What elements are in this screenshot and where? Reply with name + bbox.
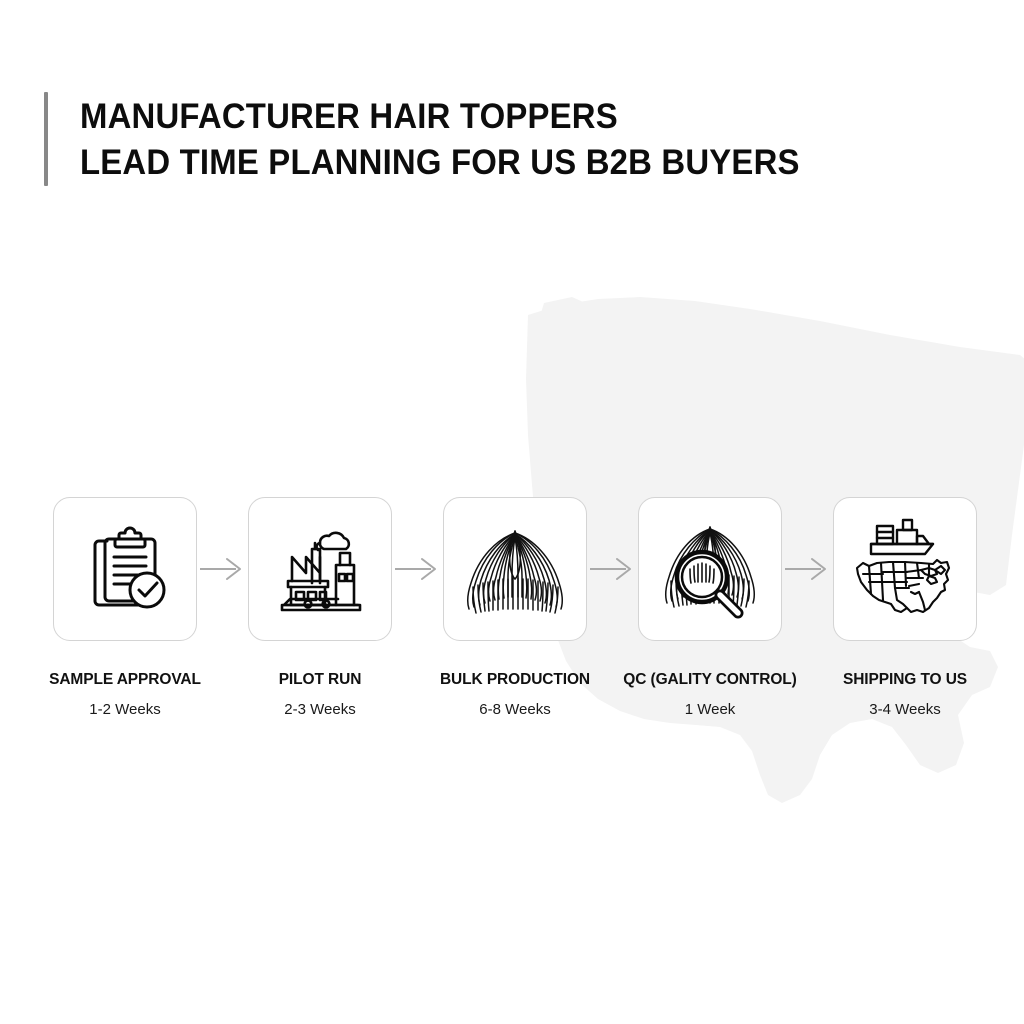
hair-topper-icon [457,521,573,617]
flow-arrow-3 [588,497,637,641]
step-duration-sample-approval: 1-2 Weeks [89,700,160,720]
title-block: MANUFACTURER HAIR TOPPERS LEAD TIME PLAN… [44,92,846,186]
hair-topper-magnifier-icon [652,519,768,619]
icon-card-qc[interactable] [638,497,782,641]
flow-arrow-1 [198,497,247,641]
step-label-qc: QC (GALITY CONTROL) [623,668,798,691]
process-flow: SAMPLE APPROVAL 1-2 Weeks [52,497,982,720]
title-line-1: MANUFACTURER HAIR TOPPERS [80,94,800,140]
flow-step-sample-approval[interactable]: SAMPLE APPROVAL 1-2 Weeks [52,497,198,720]
step-label-sample-approval: SAMPLE APPROVAL [38,668,213,691]
step-label-shipping: SHIPPING TO US [818,668,993,691]
step-duration-bulk-production: 6-8 Weeks [479,700,550,720]
step-label-pilot-run: PILOT RUN [233,668,408,691]
step-duration-qc: 1 Week [685,700,736,720]
flow-step-shipping[interactable]: SHIPPING TO US 3-4 Weeks [832,497,978,720]
cargo-ship-us-map-icon [849,516,961,622]
icon-card-sample-approval[interactable] [53,497,197,641]
flow-step-qc[interactable]: QC (GALITY CONTROL) 1 Week [637,497,783,720]
icon-card-bulk-production[interactable] [443,497,587,641]
factory-icon [270,519,370,619]
flow-arrow-2 [393,497,442,641]
step-duration-shipping: 3-4 Weeks [869,700,940,720]
icon-card-shipping[interactable] [833,497,977,641]
flow-step-pilot-run[interactable]: PILOT RUN 2-3 Weeks [247,497,393,720]
icon-card-pilot-run[interactable] [248,497,392,641]
page-title: MANUFACTURER HAIR TOPPERS LEAD TIME PLAN… [80,92,846,186]
clipboard-check-icon [75,519,175,619]
title-line-2: LEAD TIME PLANNING FOR US B2B BUYERS [80,140,800,186]
flow-step-bulk-production[interactable]: BULK PRODUCTION 6-8 Weeks [442,497,588,720]
flow-arrow-4 [783,497,832,641]
step-label-bulk-production: BULK PRODUCTION [428,668,603,691]
step-duration-pilot-run: 2-3 Weeks [284,700,355,720]
title-accent-bar [44,92,48,186]
